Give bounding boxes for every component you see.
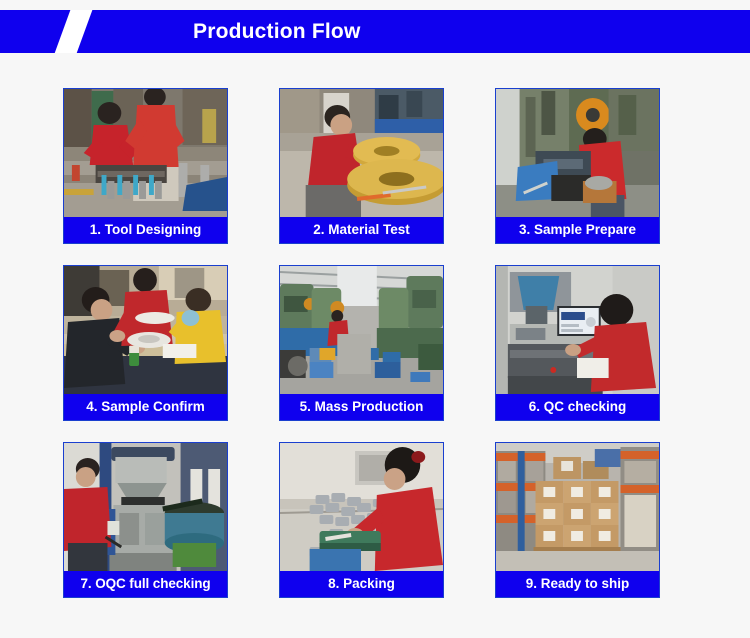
production-flow-grid: 1. Tool Designing [63, 88, 660, 598]
step-label-9: 9. Ready to ship [496, 571, 659, 597]
step-label-7: 7. OQC full checking [64, 571, 227, 597]
step-label-8: 8. Packing [280, 571, 443, 597]
step-photo-oqc-full-checking [64, 443, 227, 571]
step-label-5: 5. Mass Production [280, 394, 443, 420]
step-card-4[interactable]: 4. Sample Confirm [63, 265, 228, 421]
step-card-6[interactable]: 6. QC checking [495, 265, 660, 421]
step-label-2: 2. Material Test [280, 217, 443, 243]
step-label-6: 6. QC checking [496, 394, 659, 420]
step-photo-sample-confirm [64, 266, 227, 394]
step-photo-sample-prepare [496, 89, 659, 217]
step-card-8[interactable]: 8. Packing [279, 442, 444, 598]
grid-row: 7. OQC full checking [63, 442, 660, 598]
step-card-7[interactable]: 7. OQC full checking [63, 442, 228, 598]
page-title: Production Flow [193, 10, 360, 53]
step-label-1: 1. Tool Designing [64, 217, 227, 243]
step-label-3: 3. Sample Prepare [496, 217, 659, 243]
page-header-banner: Production Flow [0, 10, 750, 53]
step-card-1[interactable]: 1. Tool Designing [63, 88, 228, 244]
step-photo-mass-production [280, 266, 443, 394]
step-photo-ready-to-ship [496, 443, 659, 571]
grid-row: 4. Sample Confirm [63, 265, 660, 421]
step-photo-packing [280, 443, 443, 571]
step-card-3[interactable]: 3. Sample Prepare [495, 88, 660, 244]
diagonal-slash-decoration [51, 10, 94, 53]
step-label-4: 4. Sample Confirm [64, 394, 227, 420]
step-photo-qc-checking [496, 266, 659, 394]
step-card-2[interactable]: 2. Material Test [279, 88, 444, 244]
grid-row: 1. Tool Designing [63, 88, 660, 244]
step-photo-material-test [280, 89, 443, 217]
step-photo-tool-designing [64, 89, 227, 217]
step-card-9[interactable]: 9. Ready to ship [495, 442, 660, 598]
step-card-5[interactable]: 5. Mass Production [279, 265, 444, 421]
